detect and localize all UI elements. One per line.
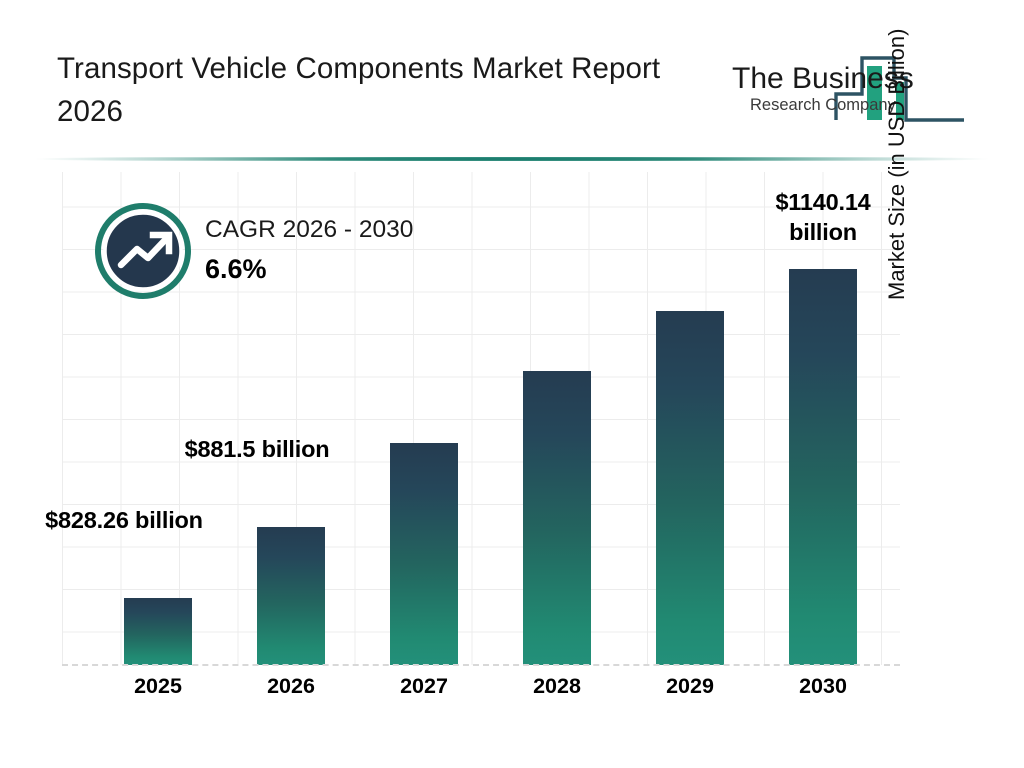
cagr-value: 6.6% (205, 250, 413, 288)
x-axis-baseline (62, 664, 900, 666)
logo-line2: Research Company (750, 96, 897, 114)
bar-2026 (257, 527, 325, 665)
x-tick-2027: 2027 (364, 674, 484, 699)
x-tick-2026: 2026 (231, 674, 351, 699)
the-business-research-company-logo: The Business Research Company (726, 32, 966, 124)
value-label-2025: $828.26 billion (44, 505, 204, 535)
x-tick-2025: 2025 (98, 674, 218, 699)
value-label-2030: $1140.14 billion (743, 187, 903, 247)
trending-up-arrow-icon (95, 203, 191, 299)
x-tick-2030: 2030 (763, 674, 883, 699)
header: Transport Vehicle Components Market Repo… (0, 0, 1024, 150)
bar-2028 (523, 371, 591, 665)
bar-2030 (789, 269, 857, 665)
logo-graphic: The Business Research Company (726, 32, 966, 124)
cagr-range-label: CAGR 2026 - 2030 (205, 215, 413, 245)
bar-2027 (390, 443, 458, 665)
cagr-text-block: CAGR 2026 - 2030 6.6% (205, 215, 413, 288)
x-axis: 2025 2026 2027 2028 2029 2030 (62, 674, 900, 714)
cagr-callout: CAGR 2026 - 2030 6.6% (95, 203, 515, 305)
x-tick-2028: 2028 (497, 674, 617, 699)
header-divider (34, 157, 990, 161)
value-label-2026: $881.5 billion (177, 434, 337, 464)
bar-2025 (124, 598, 192, 665)
y-axis-title: Market Size (in USD Billion) (884, 0, 910, 300)
x-tick-2029: 2029 (630, 674, 750, 699)
bar-2029 (656, 311, 724, 665)
page-title: Transport Vehicle Components Market Repo… (57, 47, 697, 133)
